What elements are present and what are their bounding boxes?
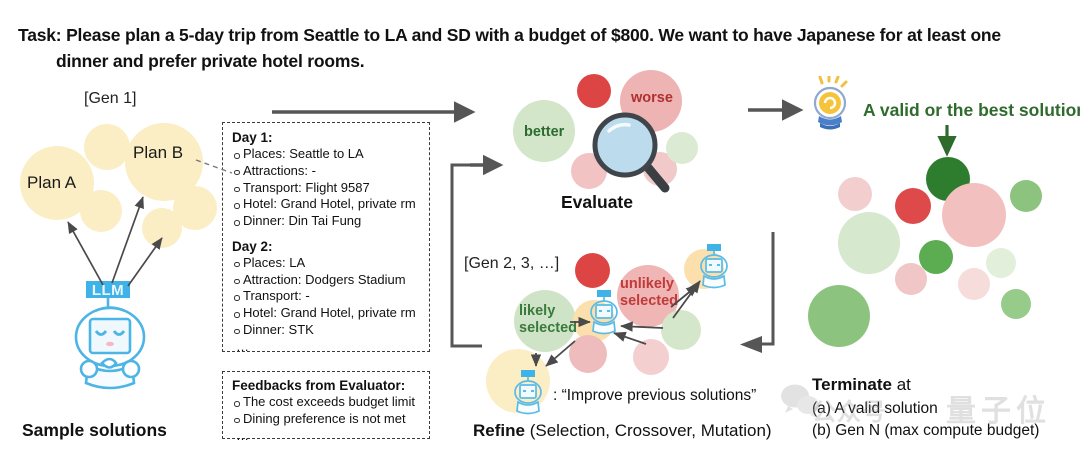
likely-line-2: selected xyxy=(519,320,577,336)
evaluate-caption: Evaluate xyxy=(561,192,633,213)
unlikely-selected-label: unlikely selected xyxy=(620,276,678,309)
llm-robot-small-icon xyxy=(584,290,624,338)
day2-item: Transport: - xyxy=(232,288,420,305)
unlikely-line-1: unlikely xyxy=(620,276,674,292)
term-bubble-green-pale xyxy=(838,212,900,274)
day1-item: Dinner: Din Tai Fung xyxy=(232,213,420,230)
refine-bubble-red xyxy=(575,253,610,288)
likely-line-1: likely xyxy=(519,303,555,319)
feedback-title: Feedbacks from Evaluator: xyxy=(232,378,420,393)
valid-solution-label: A valid or the best solution xyxy=(863,100,1080,121)
day1-title: Day 1: xyxy=(232,130,420,145)
lightbulb-icon xyxy=(806,76,858,132)
feedback-list: The cost exceeds budget limit Dining pre… xyxy=(232,394,420,428)
term-bubble-green-right xyxy=(1010,180,1042,212)
day1-list: Places: Seattle to LA Attractions: - Tra… xyxy=(232,146,420,230)
feedback-panel: Feedbacks from Evaluator: The cost excee… xyxy=(222,371,430,439)
term-bubble-red xyxy=(895,188,931,224)
task-line-1: Task: Please plan a 5-day trip from Seat… xyxy=(18,25,1001,45)
figure-canvas: Task: Please plan a 5-day trip from Seat… xyxy=(0,0,1080,453)
refine-bubble-pink-a xyxy=(569,335,607,373)
terminate-option-b: (b) Gen N (max compute budget) xyxy=(812,422,1039,440)
plan-bubble-lower-right xyxy=(142,208,182,248)
term-bubble-pink-big xyxy=(942,183,1006,247)
refine-bubble-pink-b xyxy=(633,339,669,375)
worse-label: worse xyxy=(631,90,673,106)
plan-b-label: Plan B xyxy=(133,143,183,163)
gen-n-label: [Gen 2, 3, …] xyxy=(464,255,559,273)
day2-title: Day 2: xyxy=(232,239,420,254)
better-label: better xyxy=(524,124,564,140)
plan-bubble-small-top xyxy=(84,124,130,170)
refine-caption-rest: (Selection, Crossover, Mutation) xyxy=(525,421,772,440)
day1-item: Places: Seattle to LA xyxy=(232,146,420,163)
refine-bubble-green-right xyxy=(661,310,701,350)
terminate-caption-bold: Terminate xyxy=(812,375,892,394)
likely-selected-label: likely selected xyxy=(519,303,577,336)
sample-solutions-caption: Sample solutions xyxy=(22,420,167,441)
task-statement: Task: Please plan a 5-day trip from Seat… xyxy=(18,22,1063,75)
plan-bubble-mid xyxy=(80,190,122,232)
task-line-2: dinner and prefer private hotel rooms. xyxy=(18,48,1063,74)
term-bubble-pink-mid xyxy=(895,263,927,295)
terminate-option-a: (a) A valid solution xyxy=(812,400,938,418)
refine-caption: Refine (Selection, Crossover, Mutation) xyxy=(473,421,772,441)
day2-item: Attraction: Dodgers Stadium xyxy=(232,272,420,289)
feedback-item: The cost exceeds budget limit xyxy=(232,394,420,411)
term-bubble-green-big xyxy=(808,285,870,347)
term-bubble-green-low xyxy=(1001,289,1031,319)
gen1-label: [Gen 1] xyxy=(84,90,136,108)
plan-a-label: Plan A xyxy=(27,173,76,193)
day2-item: Hotel: Grand Hotel, private rm xyxy=(232,305,420,322)
term-bubble-green-faint xyxy=(986,248,1016,278)
llm-robot-legend-icon xyxy=(508,370,548,418)
plan-panel-ellipsis: … xyxy=(232,339,420,354)
llm-robot-small-icon xyxy=(694,244,734,292)
day1-item: Hotel: Grand Hotel, private rm xyxy=(232,196,420,213)
term-bubble-pink-pale xyxy=(958,268,990,300)
unlikely-line-2: selected xyxy=(620,293,678,309)
term-bubble-pink-small xyxy=(838,177,872,211)
refine-legend-text: : “Improve previous solutions” xyxy=(553,387,756,405)
llm-tag: LLM xyxy=(86,281,130,298)
day1-item: Transport: Flight 9587 xyxy=(232,180,420,197)
wechat-watermark-icon xyxy=(780,383,820,417)
refine-caption-bold: Refine xyxy=(473,421,525,440)
eval-bubble-red-top xyxy=(577,74,611,108)
terminate-caption: Terminate at xyxy=(812,375,911,395)
feedback-item: Dining preference is not met xyxy=(232,411,420,428)
plan-detail-panel: Day 1: Places: Seattle to LA Attractions… xyxy=(222,122,430,352)
day2-item: Places: LA xyxy=(232,255,420,272)
day2-item: Dinner: STK xyxy=(232,322,420,339)
feedback-panel-ellipsis: … xyxy=(232,428,420,443)
day1-item: Attractions: - xyxy=(232,163,420,180)
llm-robot-icon: LLM xyxy=(62,281,158,393)
terminate-caption-rest: at xyxy=(892,375,911,394)
day2-list: Places: LA Attraction: Dodgers Stadium T… xyxy=(232,255,420,339)
magnifier-icon xyxy=(585,105,680,200)
